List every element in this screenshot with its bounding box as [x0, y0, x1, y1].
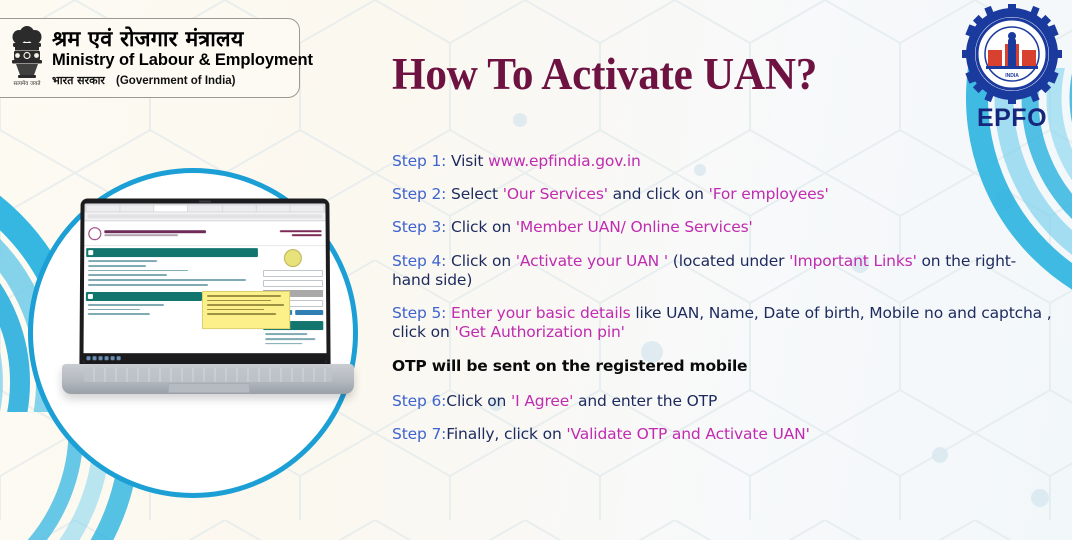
step-line: Step 6:Click on 'I Agree' and enter the … — [392, 392, 1052, 411]
browser-tab — [86, 205, 119, 211]
browser-tab — [188, 205, 221, 211]
svg-text:INDIA: INDIA — [1005, 73, 1019, 79]
page-title: How To Activate UAN? — [392, 48, 817, 100]
step-label: Step 3: — [392, 218, 446, 236]
step-highlight: 'Validate OTP and Activate UAN' — [566, 425, 809, 443]
step-line: Step 4: Click on 'Activate your UAN ' (l… — [392, 252, 1052, 290]
epfo-label: EPFO — [960, 104, 1064, 133]
step-text: and click on — [608, 185, 709, 203]
otp-note: OTP will be sent on the registered mobil… — [392, 357, 1052, 376]
browser-tab — [290, 205, 323, 211]
step-highlight: 'I Agree' — [511, 392, 573, 410]
windows-taskbar — [83, 353, 326, 362]
browser-tab — [154, 205, 187, 211]
step-label: Step 2: — [392, 185, 446, 203]
laptop-base — [62, 364, 354, 394]
portal-header — [84, 221, 325, 246]
taskbar-icon[interactable] — [92, 356, 96, 360]
ashoka-lion-capital-emblem: सत्यमेव जयते — [6, 23, 48, 93]
portal-header-right — [280, 230, 322, 236]
steps-list: Step 1: Visit www.epfindia.gov.inStep 2:… — [392, 152, 1052, 458]
step-highlight: 'For employees' — [709, 185, 829, 203]
step-highlight: 'Activate your UAN ' — [516, 252, 668, 270]
browser-tab-strip — [84, 203, 325, 212]
ministry-hindi-subtitle: भारत सरकार — [52, 74, 105, 87]
webcam-notch — [199, 201, 211, 203]
step-text: Click on — [446, 218, 516, 236]
ministry-english-title: Ministry of Labour & Employment — [52, 52, 313, 69]
trackpad — [168, 383, 250, 393]
step-highlight: 'Important Links' — [789, 252, 917, 270]
step-label: Step 5: — [392, 304, 446, 322]
reset-button[interactable] — [295, 310, 324, 315]
step-line: Step 5: Enter your basic details like UA… — [392, 304, 1052, 342]
step-highlight: www.epfindia.gov.in — [488, 152, 641, 170]
taskbar-icon[interactable] — [99, 356, 103, 360]
step-line: Step 7:Finally, click on 'Validate OTP a… — [392, 425, 1052, 444]
epfo-gear-logo: INDIA — [962, 4, 1062, 104]
step-text: Visit — [446, 152, 488, 170]
step-text: (located under — [668, 252, 789, 270]
laptop-lid — [79, 199, 330, 369]
ministry-text-block: श्रम एवं रोजगार मंत्रालय Ministry of Lab… — [52, 29, 313, 88]
step-highlight: 'Our Services' — [503, 185, 608, 203]
password-input[interactable] — [263, 280, 323, 287]
portal-logo-icon — [88, 227, 101, 240]
ministry-subtitle: भारत सरकार (Government of India) — [52, 71, 313, 88]
taskbar-icon[interactable] — [117, 356, 121, 360]
step-highlight: 'Get Authorization pin' — [454, 323, 624, 341]
browser-tab — [120, 205, 153, 211]
step-highlight: Enter your basic details — [451, 304, 631, 322]
step-text: Click on — [446, 392, 511, 410]
portal-notice-box — [202, 291, 290, 329]
portal-title-block — [104, 230, 280, 236]
infographic-canvas: सत्यमेव जयते श्रम एवं रोजगार मंत्रालय Mi… — [0, 0, 1072, 540]
svg-text:सत्यमेव जयते: सत्यमेव जयते — [13, 80, 41, 87]
step-line: Step 3: Click on 'Member UAN/ Online Ser… — [392, 218, 1052, 237]
epfo-logo-block: INDIA EPFO — [960, 4, 1064, 133]
keyboard — [84, 368, 332, 382]
browser-tab — [222, 205, 255, 211]
start-icon[interactable] — [86, 356, 90, 360]
user-avatar — [284, 249, 302, 267]
step-text: Click on — [446, 252, 516, 270]
portal-section-header — [86, 292, 202, 301]
laptop-screen — [83, 203, 326, 362]
step-line: Step 2: Select 'Our Services' and click … — [392, 185, 1052, 204]
step-label: Step 1: — [392, 152, 446, 170]
laptop-mockup — [62, 198, 354, 413]
ministry-logo-plate: सत्यमेव जयते श्रम एवं रोजगार मंत्रालय Mi… — [0, 18, 300, 98]
portal-section-header — [86, 248, 258, 257]
step-label: Step 7: — [392, 425, 446, 443]
otp-note-text: OTP will be sent on the registered mobil… — [392, 357, 747, 375]
url-field — [87, 214, 322, 218]
ministry-hindi-title: श्रम एवं रोजगार मंत्रालय — [52, 29, 313, 51]
taskbar-icon[interactable] — [111, 356, 115, 360]
step-text: Select — [446, 185, 502, 203]
step-label: Step 6: — [392, 392, 446, 410]
ministry-english-subtitle: (Government of India) — [116, 75, 235, 87]
step-text: and enter the OTP — [573, 392, 717, 410]
browser-tab — [256, 205, 289, 211]
browser-address-bar — [84, 212, 325, 221]
step-label: Step 4: — [392, 252, 446, 270]
step-line: Step 1: Visit www.epfindia.gov.in — [392, 152, 1052, 171]
step-text: Finally, click on — [446, 425, 566, 443]
taskbar-icon[interactable] — [105, 356, 109, 360]
uan-input[interactable] — [263, 270, 323, 277]
step-highlight: 'Member UAN/ Online Services' — [516, 218, 753, 236]
